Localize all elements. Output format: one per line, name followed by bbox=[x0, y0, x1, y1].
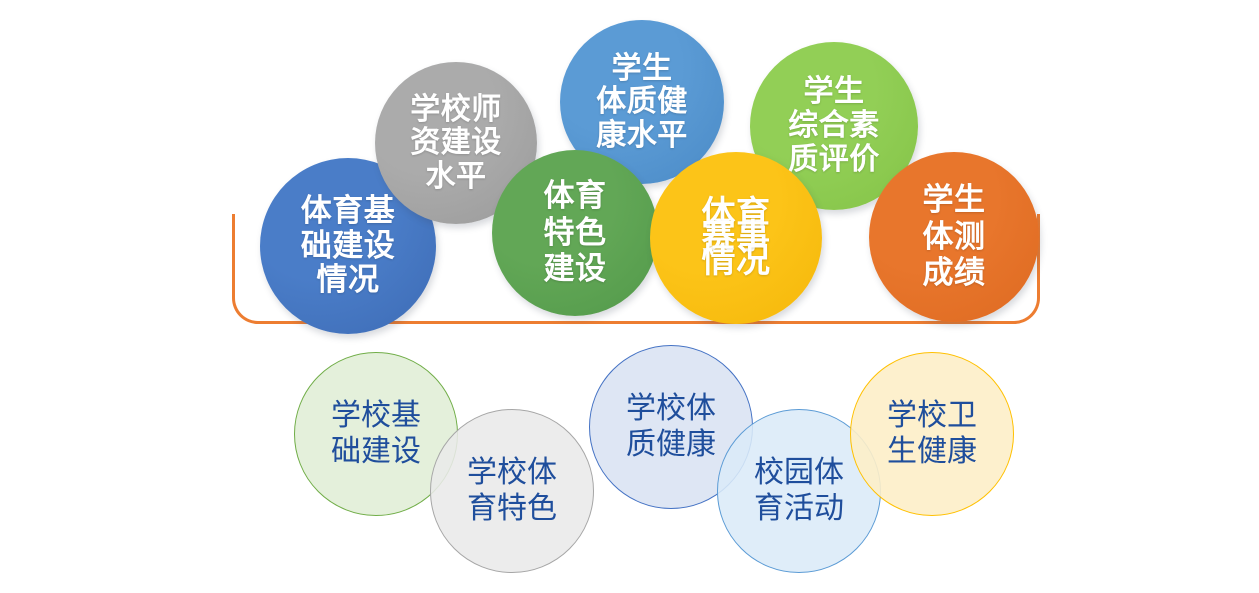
bubble-school-sports-feature[interactable]: 学校体育特色 bbox=[430, 409, 594, 573]
bubble-label: 学校师资建设水平 bbox=[406, 93, 506, 194]
bubble-sports-feature-building[interactable]: 体育特色建设 bbox=[492, 150, 658, 316]
bubble-label: 校园体育活动 bbox=[748, 455, 850, 527]
bubble-label: 学生体质健康水平 bbox=[592, 52, 692, 153]
bubble-label: 学校卫生健康 bbox=[881, 398, 983, 470]
bubble-label: 学校体质健康 bbox=[620, 391, 722, 463]
bubble-label: 学校体育特色 bbox=[461, 455, 563, 527]
bubble-sports-competition-status[interactable]: 体育赛事情况 bbox=[650, 152, 822, 324]
diagram-canvas: 体育基础建设情况学校师资建设水平学生体质健康水平体育特色建设学生综合素质评价体育… bbox=[0, 0, 1259, 593]
bubble-label: 学校基础建设 bbox=[325, 398, 427, 470]
bubble-label: 体育特色建设 bbox=[540, 178, 611, 288]
bubble-label: 体育赛事情况 bbox=[698, 203, 775, 272]
bubble-label: 学生体测成绩 bbox=[919, 182, 990, 292]
bubble-label: 体育基础建设情况 bbox=[297, 194, 400, 298]
bubble-student-fitness-test-score[interactable]: 学生体测成绩 bbox=[869, 152, 1039, 322]
bubble-label: 学生综合素质评价 bbox=[784, 75, 884, 178]
bubble-school-hygiene-health[interactable]: 学校卫生健康 bbox=[850, 352, 1014, 516]
